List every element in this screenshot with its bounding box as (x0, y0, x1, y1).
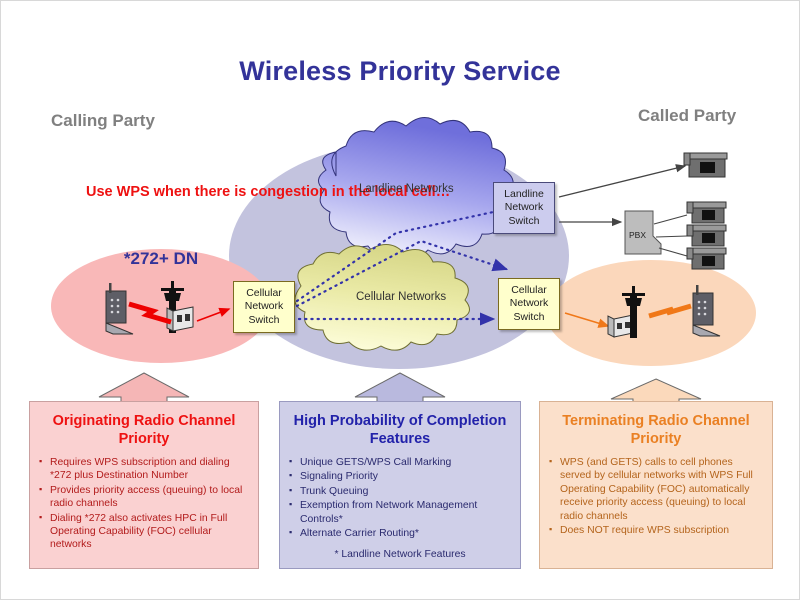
cellular-network-switch-terminating[interactable]: Cellular Network Switch (498, 278, 560, 330)
cellular-networks-label: Cellular Networks (356, 291, 446, 303)
switch-line-1: Cellular (510, 284, 549, 298)
list-item: Requires WPS subscription and dialing *2… (39, 456, 249, 483)
switch-line-3: Switch (245, 314, 284, 328)
info-box-originating: Originating Radio Channel Priority Requi… (29, 401, 259, 569)
wps-congestion-note: Use WPS when there is congestion in the … (86, 183, 236, 202)
pbx-label: PBX (629, 230, 646, 240)
landline-network-switch[interactable]: Landline Network Switch (493, 182, 555, 234)
switch-line-2: Network (245, 300, 284, 314)
terminating-base-station-icon (608, 315, 633, 337)
cellular-network-switch-originating[interactable]: Cellular Network Switch (233, 281, 295, 333)
list-item: Unique GETS/WPS Call Marking (289, 456, 511, 469)
info-box-bullets: WPS (and GETS) calls to cell phones serv… (549, 456, 763, 537)
info-box-bullets: Requires WPS subscription and dialing *2… (39, 456, 249, 552)
info-box-terminating: Terminating Radio Channel Priority WPS (… (539, 401, 773, 569)
list-item: Trunk Queuing (289, 485, 511, 498)
list-item: Exemption from Network Management Contro… (289, 499, 511, 526)
list-item: Does NOT require WPS subscription (549, 524, 763, 537)
pbx-extension-line-2 (656, 236, 687, 237)
switch-line-3: Switch (504, 215, 544, 229)
list-item: Signaling Priority (289, 470, 511, 483)
page-title: Wireless Priority Service (1, 56, 799, 87)
desk-phone-icon-standalone (684, 153, 727, 177)
info-box-title: Terminating Radio Channel Priority (549, 412, 763, 448)
pbx-extension-line-3 (659, 248, 687, 256)
info-box-title: Originating Radio Channel Priority (39, 412, 249, 448)
desk-phone-icon-ext-1 (687, 202, 726, 223)
originating-base-station-icon (167, 307, 193, 331)
pbx-extension-line-1 (654, 215, 687, 224)
trunk-to-desk-phone (559, 166, 685, 197)
switch-line-1: Landline (504, 188, 544, 202)
desk-phone-icon-ext-2 (687, 225, 726, 246)
calling-party-label: Calling Party (51, 111, 155, 131)
list-item: Dialing *272 also activates HPC in Full … (39, 512, 249, 552)
list-item: Provides priority access (queuing) to lo… (39, 484, 249, 511)
list-item: Alternate Carrier Routing* (289, 527, 511, 540)
desk-phone-icon-ext-3 (687, 248, 726, 269)
list-item: WPS (and GETS) calls to cell phones serv… (549, 456, 763, 523)
called-party-label: Called Party (638, 106, 736, 126)
switch-line-2: Network (510, 297, 549, 311)
landline-networks-label: Landline Networks (359, 183, 454, 195)
switch-line-1: Cellular (245, 287, 284, 301)
switch-line-3: Switch (510, 311, 549, 325)
info-box-bullets: Unique GETS/WPS Call Marking Signaling P… (289, 456, 511, 540)
diagram-canvas: Wireless Priority Service Calling Party … (1, 1, 799, 599)
info-box-footnote: * Landline Network Features (289, 549, 511, 560)
switch-line-2: Network (504, 201, 544, 215)
dial-code-label: *272+ DN (106, 249, 216, 269)
info-box-hpc: High Probability of Completion Features … (279, 401, 521, 569)
info-box-title: High Probability of Completion Features (289, 412, 511, 448)
